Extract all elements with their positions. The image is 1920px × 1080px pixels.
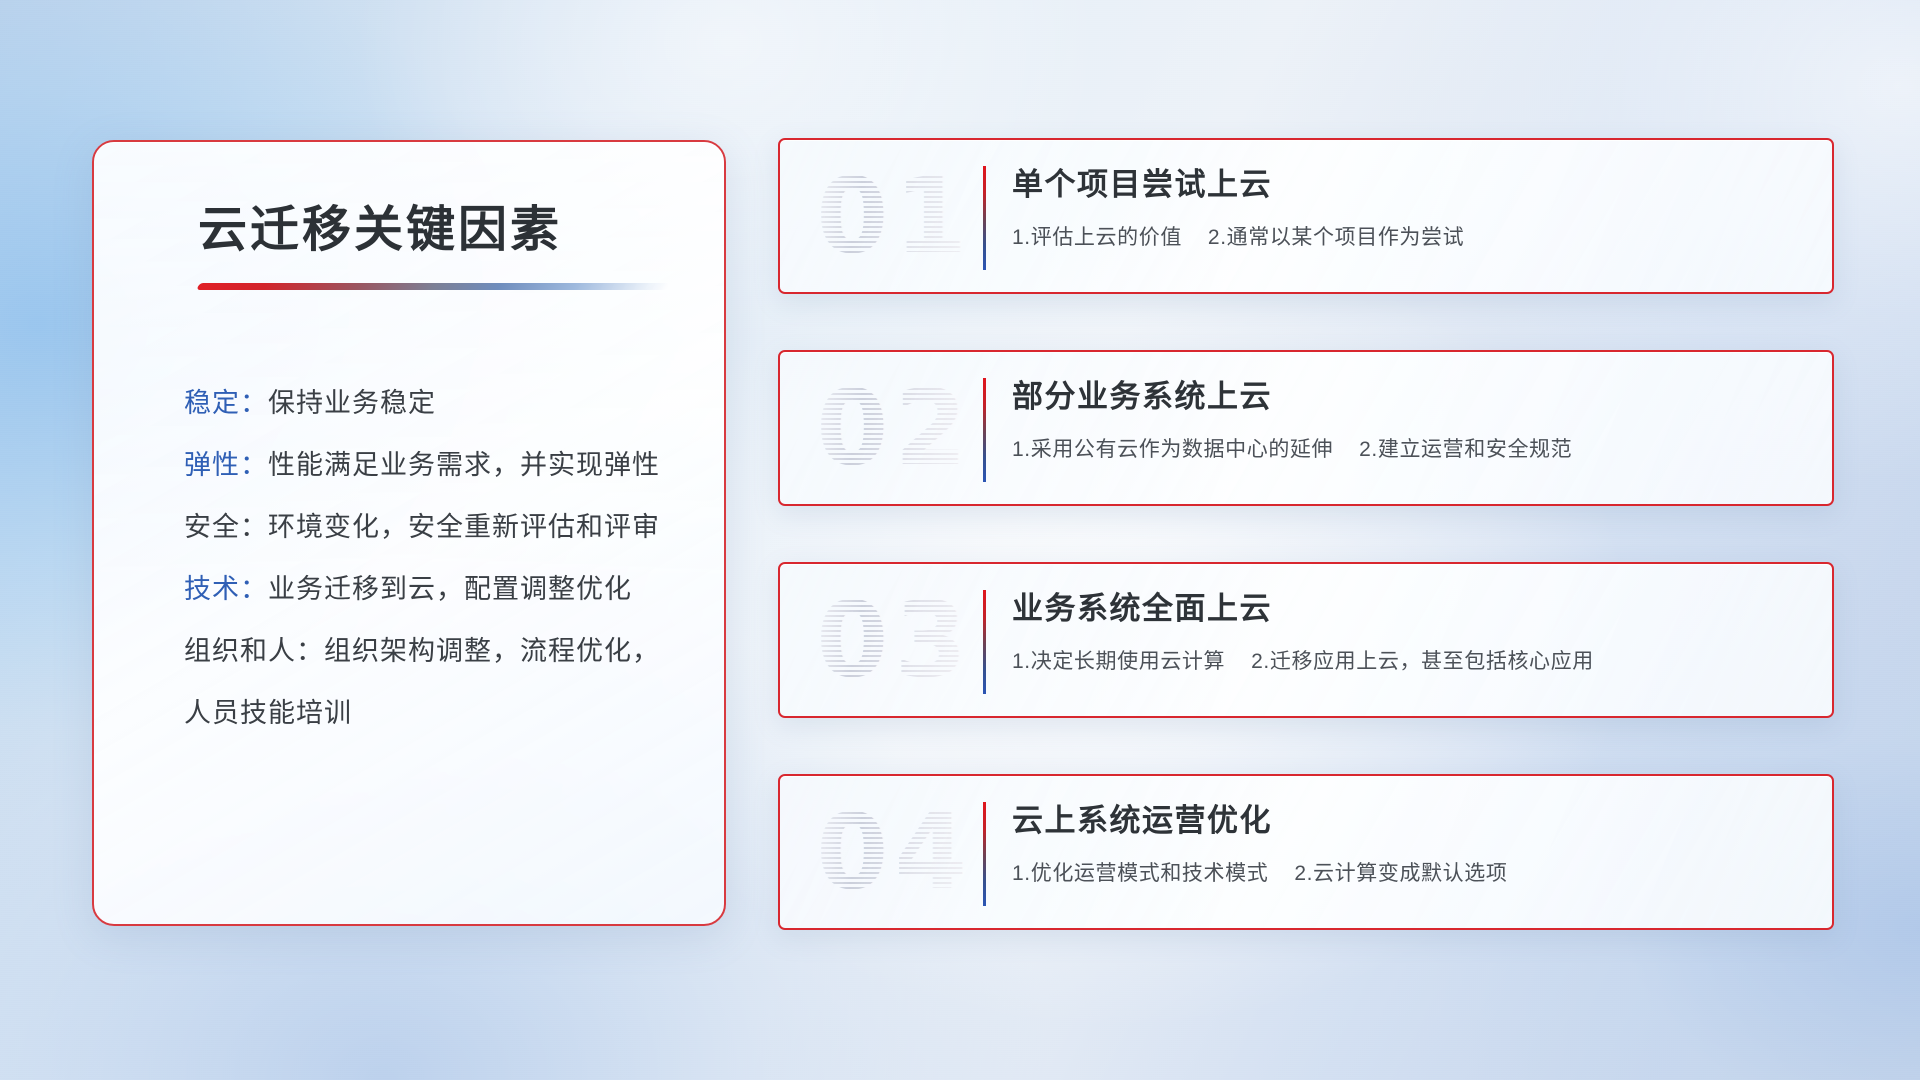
factor-text: 业务迁移到云，配置调整优化 xyxy=(268,574,632,604)
card-title: 部分业务系统上云 xyxy=(1012,376,1806,418)
card-point: 2.云计算变成默认选项 xyxy=(1294,862,1507,885)
stage-card[interactable]: 01 单个项目尝试上云 1.评估上云的价值2.通常以某个项目作为尝试 xyxy=(778,138,1834,294)
key-factors-list: 稳定：保持业务稳定 弹性：性能满足业务需求，并实现弹性 安全：环境变化，安全重新… xyxy=(184,372,676,744)
list-item: 技术：业务迁移到云，配置调整优化 xyxy=(184,558,676,620)
card-description: 1.评估上云的价值2.通常以某个项目作为尝试 xyxy=(1012,221,1806,251)
factor-text: 保持业务稳定 xyxy=(268,388,436,418)
stage-card[interactable]: 02 部分业务系统上云 1.采用公有云作为数据中心的延伸2.建立运营和安全规范 xyxy=(778,350,1834,506)
card-description: 1.决定长期使用云计算2.迁移应用上云，甚至包括核心应用 xyxy=(1012,645,1806,675)
key-factors-panel: 云迁移关键因素 稳定：保持业务稳定 弹性：性能满足业务需求，并实现弹性 安全：环… xyxy=(92,140,726,926)
card-description: 1.采用公有云作为数据中心的延伸2.建立运营和安全规范 xyxy=(1012,433,1806,463)
slide-canvas: 云迁移关键因素 稳定：保持业务稳定 弹性：性能满足业务需求，并实现弹性 安全：环… xyxy=(0,0,1920,1080)
card-point: 1.决定长期使用云计算 xyxy=(1012,650,1225,673)
factor-text: 性能满足业务需求，并实现弹性 xyxy=(268,450,660,480)
list-item: 安全：环境变化，安全重新评估和评审 xyxy=(184,496,676,558)
card-point: 1.评估上云的价值 xyxy=(1012,226,1182,249)
factor-label: 组织和人： xyxy=(184,636,324,666)
list-item: 组织和人：组织架构调整，流程优化， xyxy=(184,620,676,682)
factor-text: 环境变化，安全重新评估和评审 xyxy=(268,512,660,542)
card-step-number: 03 xyxy=(816,588,973,692)
card-point: 2.通常以某个项目作为尝试 xyxy=(1208,226,1464,249)
card-step-number: 04 xyxy=(816,800,973,904)
stage-card[interactable]: 03 业务系统全面上云 1.决定长期使用云计算2.迁移应用上云，甚至包括核心应用 xyxy=(778,562,1834,718)
page-title: 云迁移关键因素 xyxy=(198,200,676,261)
card-accent-bar xyxy=(983,590,986,694)
factor-text: 人员技能培训 xyxy=(184,698,352,728)
card-accent-bar xyxy=(983,378,986,482)
stage-card[interactable]: 04 云上系统运营优化 1.优化运营模式和技术模式2.云计算变成默认选项 xyxy=(778,774,1834,930)
factor-label: 稳定： xyxy=(184,388,268,418)
list-item: 弹性：性能满足业务需求，并实现弹性 xyxy=(184,434,676,496)
factor-label: 弹性： xyxy=(184,450,268,480)
card-point: 2.建立运营和安全规范 xyxy=(1359,438,1572,461)
list-item: 人员技能培训 xyxy=(184,682,676,744)
card-accent-bar xyxy=(983,166,986,270)
card-step-number: 01 xyxy=(816,164,973,268)
title-underline-accent xyxy=(196,283,669,290)
card-step-number: 02 xyxy=(816,376,973,480)
card-title: 云上系统运营优化 xyxy=(1012,800,1806,842)
card-title: 业务系统全面上云 xyxy=(1012,588,1806,630)
card-point: 2.迁移应用上云，甚至包括核心应用 xyxy=(1251,650,1594,673)
card-accent-bar xyxy=(983,802,986,906)
card-point: 1.采用公有云作为数据中心的延伸 xyxy=(1012,438,1333,461)
card-point: 1.优化运营模式和技术模式 xyxy=(1012,862,1268,885)
card-description: 1.优化运营模式和技术模式2.云计算变成默认选项 xyxy=(1012,857,1806,887)
stage-cards-list: 01 单个项目尝试上云 1.评估上云的价值2.通常以某个项目作为尝试 02 部分… xyxy=(778,138,1834,930)
list-item: 稳定：保持业务稳定 xyxy=(184,372,676,434)
factor-label: 技术： xyxy=(184,574,268,604)
factor-label: 安全： xyxy=(184,512,268,542)
card-title: 单个项目尝试上云 xyxy=(1012,164,1806,206)
factor-text: 组织架构调整，流程优化， xyxy=(324,636,660,666)
